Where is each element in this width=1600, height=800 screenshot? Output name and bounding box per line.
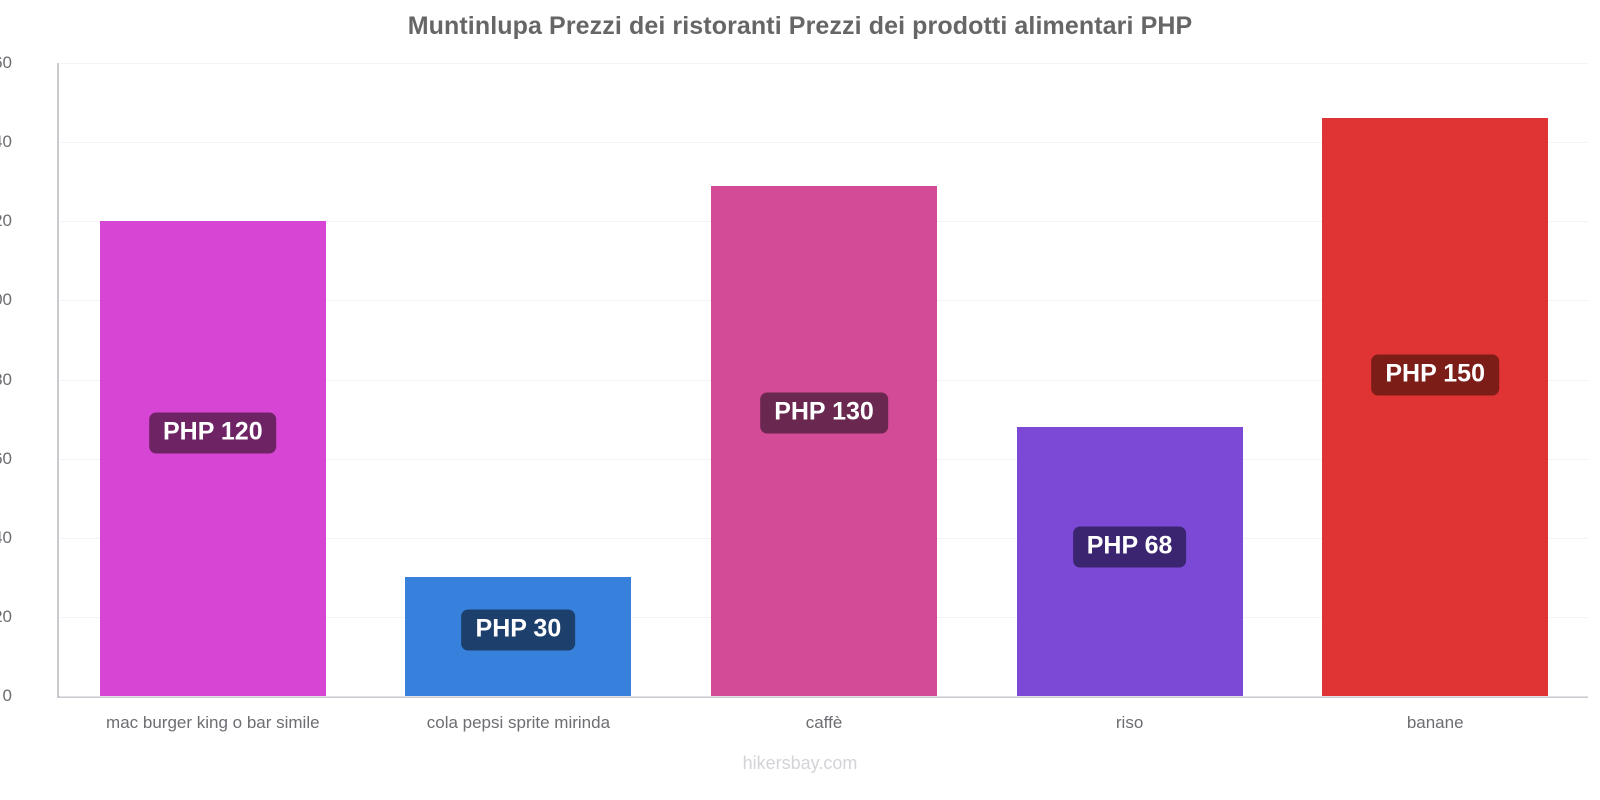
y-axis-tick-label: 0: [0, 686, 12, 706]
y-axis-tick-label: 160: [0, 53, 12, 73]
y-axis-tick-label: 40: [0, 528, 12, 548]
x-axis-category-label: mac burger king o bar simile: [106, 713, 320, 733]
bar[interactable]: [711, 186, 937, 696]
bar[interactable]: [100, 221, 326, 696]
y-axis-tick-label: 60: [0, 449, 12, 469]
bar-value-label: PHP 130: [760, 392, 888, 433]
bar[interactable]: [1322, 118, 1548, 696]
x-axis-category-label: caffè: [806, 713, 843, 733]
y-axis-tick-label: 100: [0, 290, 12, 310]
chart-title: Muntinlupa Prezzi dei ristoranti Prezzi …: [0, 12, 1600, 41]
y-axis-tick-label: 120: [0, 211, 12, 231]
bar-value-label: PHP 68: [1073, 526, 1187, 567]
gridline: [60, 696, 1588, 697]
bar-value-label: PHP 30: [462, 610, 576, 651]
bar-value-label: PHP 150: [1371, 355, 1499, 396]
x-axis-category-label: cola pepsi sprite mirinda: [427, 713, 610, 733]
plot-area: PHP 120PHP 30PHP 130PHP 68PHP 150: [60, 63, 1588, 696]
y-axis-tick-label: 80: [0, 370, 12, 390]
footer-attribution: hikersbay.com: [0, 753, 1600, 774]
gridline: [60, 63, 1588, 64]
x-axis-category-label: banane: [1407, 713, 1464, 733]
x-axis-category-label: riso: [1116, 713, 1143, 733]
y-axis-tick-label: 140: [0, 132, 12, 152]
bar-value-label: PHP 120: [149, 412, 277, 453]
bar-chart-figure: Muntinlupa Prezzi dei ristoranti Prezzi …: [0, 0, 1600, 800]
y-axis-line: [57, 63, 59, 697]
y-axis-tick-label: 20: [0, 607, 12, 627]
